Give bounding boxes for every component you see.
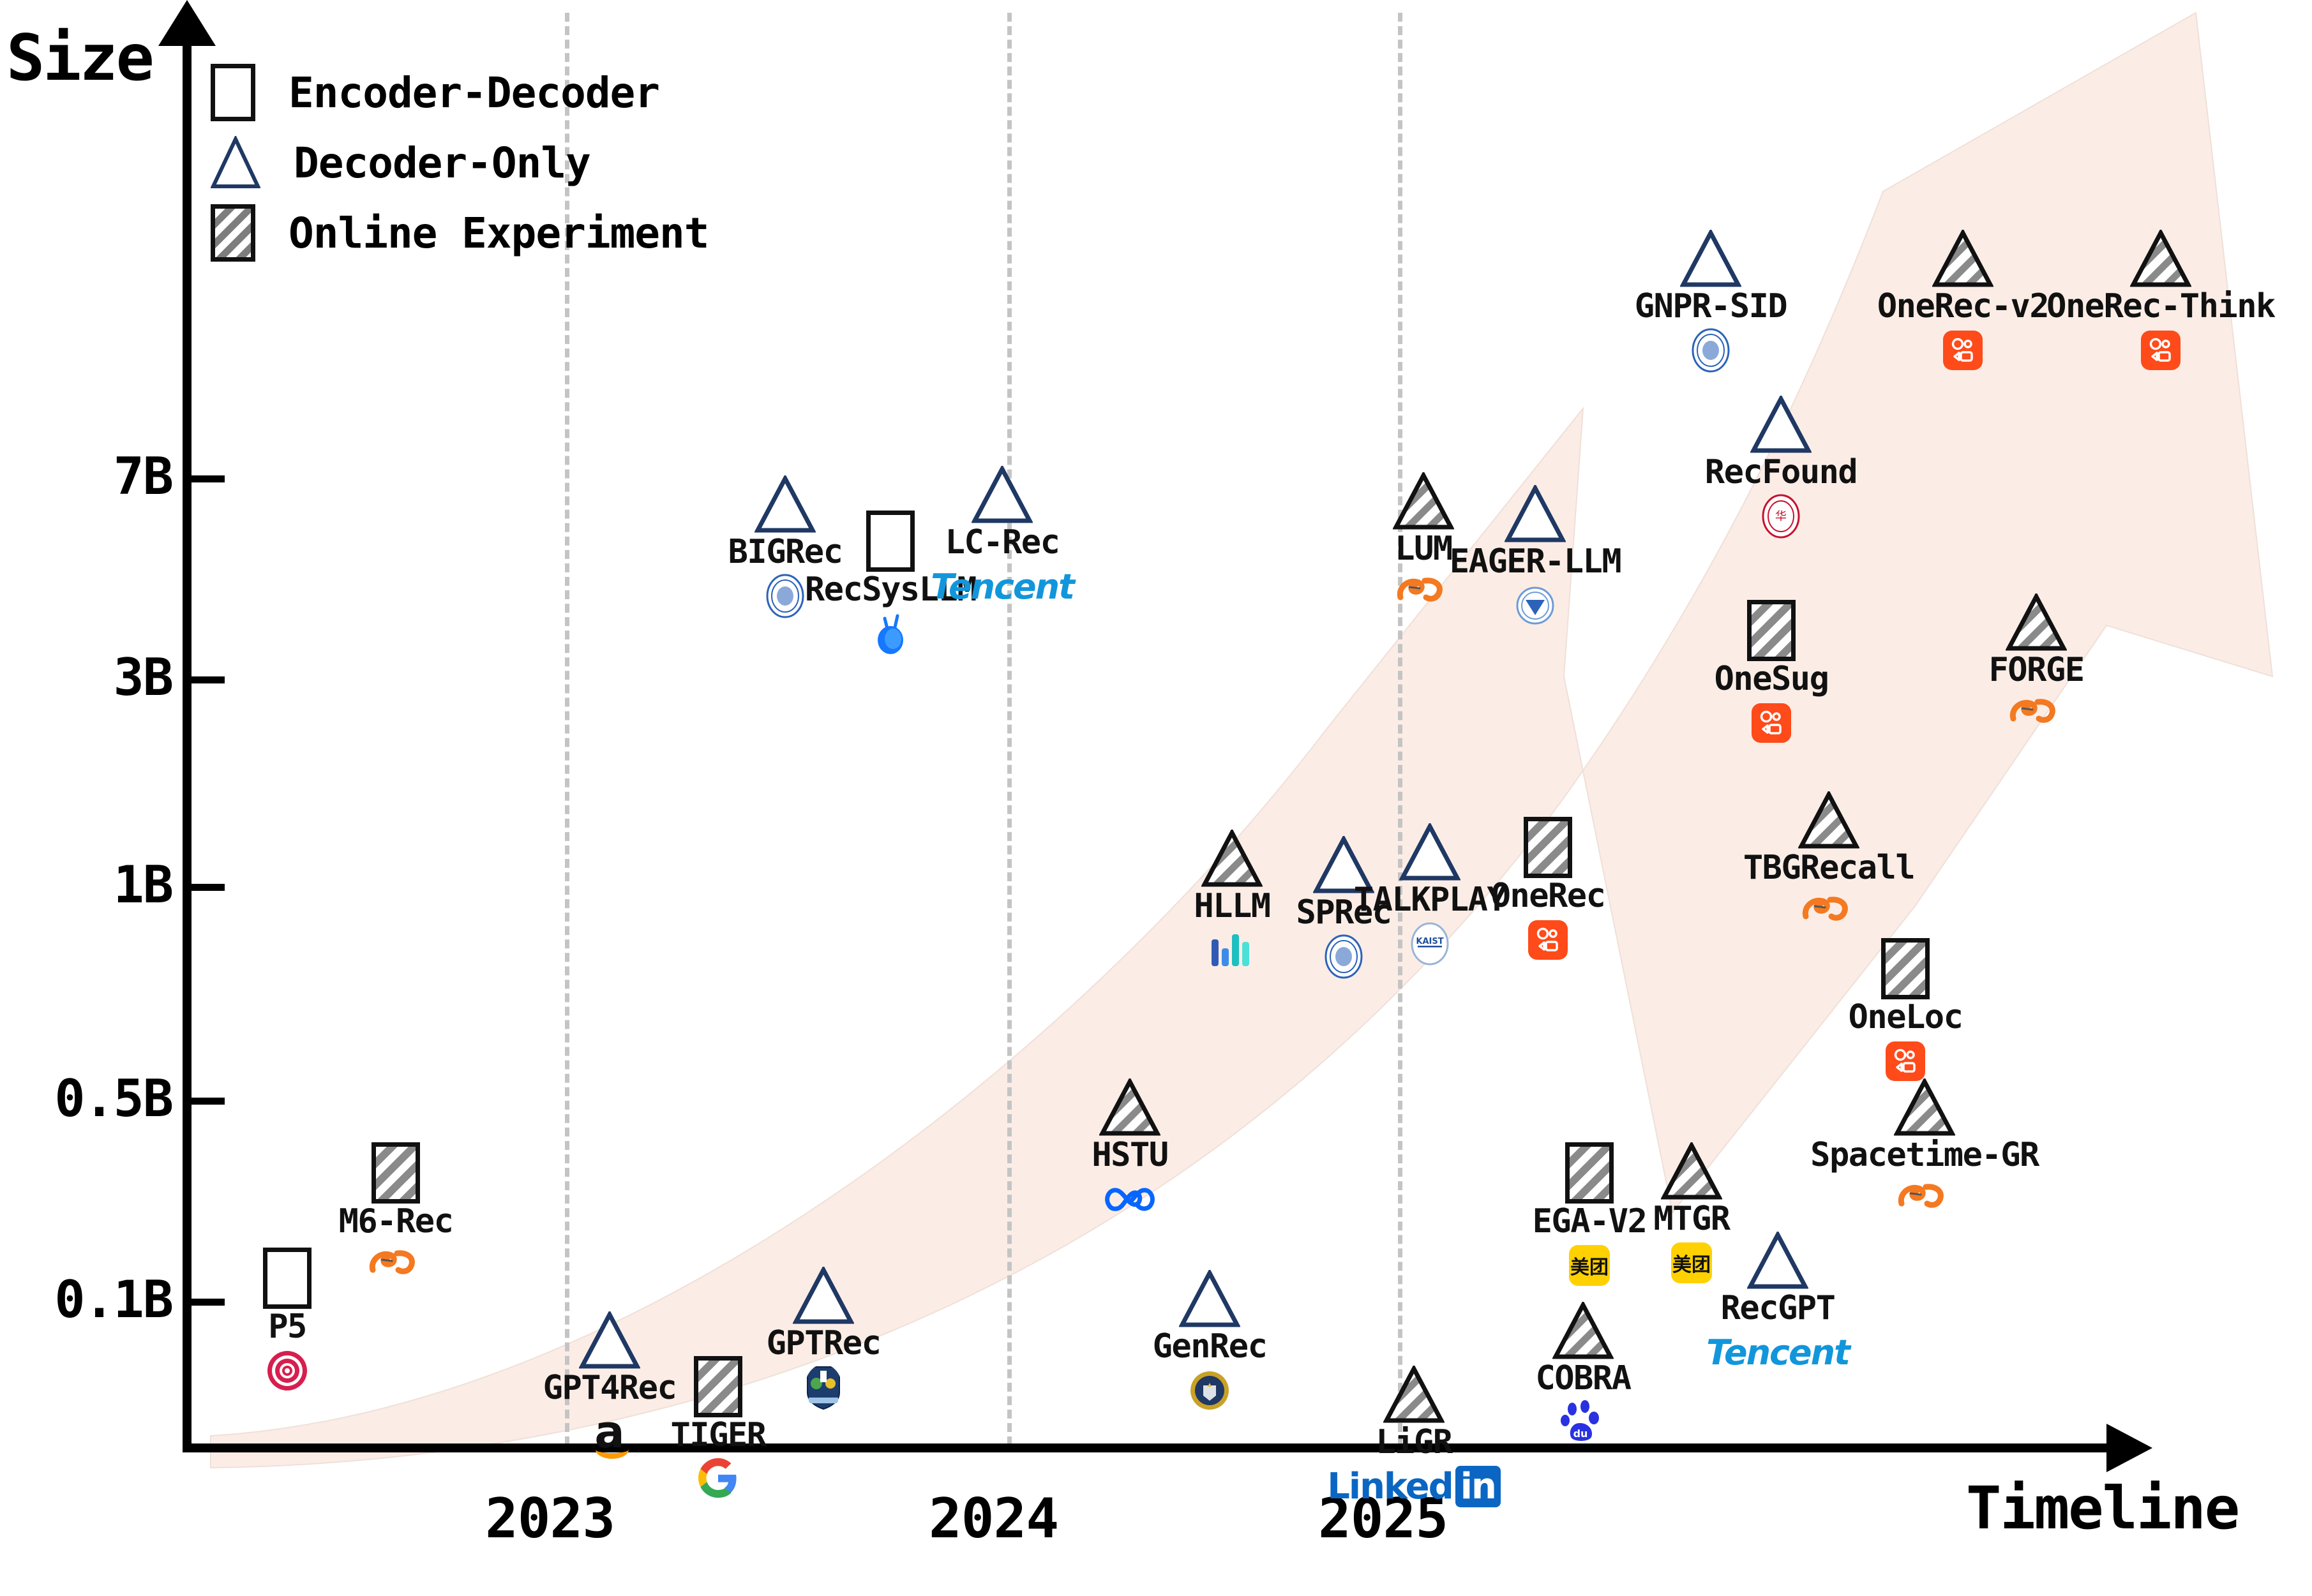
y-tick-label-7b: 7B <box>26 447 172 506</box>
ustc-crest-icon <box>1691 328 1730 373</box>
university-seal-icon <box>1189 1370 1230 1411</box>
glasgow-crest-icon <box>805 1364 842 1410</box>
amazon-logo-icon: a <box>594 1414 624 1450</box>
triangle-outline-icon <box>211 136 260 190</box>
data-point-recgpt[interactable]: RecGPTTencent <box>1708 1232 1848 1376</box>
x-tick-label-2023: 2023 <box>485 1487 615 1551</box>
org-logo <box>1189 1367 1230 1414</box>
org-logo: 华 <box>1761 493 1801 540</box>
marker-triangle-outline <box>1747 1232 1808 1290</box>
marker-square-hatched <box>1565 1142 1614 1204</box>
marker-square-hatched <box>1881 938 1930 999</box>
meituan-logo-icon: 美团 <box>1671 1242 1712 1283</box>
marker-square-hatched <box>1524 817 1572 878</box>
square-hatched-icon <box>211 204 255 262</box>
kuaishou-logo-icon <box>1528 920 1568 960</box>
data-point-label: LiGR <box>1376 1426 1452 1459</box>
legend: Encoder-Decoder Decoder-Only Online Expe… <box>211 57 709 268</box>
data-point-label: OneRec <box>1491 879 1605 913</box>
marker-square-outline <box>866 511 915 572</box>
data-point-lc-rec[interactable]: LC-RecTencent <box>932 466 1072 610</box>
org-logo: 美团 <box>1671 1239 1712 1286</box>
google-logo-icon <box>698 1458 738 1500</box>
ustc-crest-icon <box>765 574 805 618</box>
alibaba-logo-icon <box>1799 888 1858 936</box>
data-point-gnpr-sid[interactable]: GNPR-SID <box>1640 230 1781 374</box>
data-point-label: TIGER <box>670 1419 765 1452</box>
marker-triangle-hatched <box>1932 230 1993 288</box>
marker-triangle-outline <box>1399 823 1460 882</box>
y-tick-mark-1b <box>191 884 225 891</box>
data-point-spacetime-gr[interactable]: Spacetime-GR <box>1854 1078 1995 1223</box>
org-logo <box>1895 1175 1954 1223</box>
data-point-onerec[interactable]: OneRec <box>1478 817 1618 964</box>
marker-triangle-hatched <box>1201 830 1263 888</box>
tencent-logo-icon: Tencent <box>931 567 1074 607</box>
org-logo <box>366 1242 425 1289</box>
org-logo <box>869 610 912 657</box>
tencent-logo-icon: Tencent <box>1706 1332 1849 1373</box>
data-point-label: P5 <box>268 1310 306 1343</box>
kuaishou-logo-icon <box>1752 703 1791 743</box>
data-point-label: GenRec <box>1153 1330 1267 1363</box>
marker-square-hatched <box>1747 600 1796 661</box>
y-tick-label-1b: 1B <box>26 855 172 914</box>
chart-canvas: Size Timeline 7B 3B 1B 0.5B 0.1B 2023 20… <box>0 0 2312 1596</box>
marker-triangle-outline <box>754 475 816 534</box>
data-point-label: LUM <box>1395 532 1452 565</box>
marker-triangle-hatched <box>2130 230 2191 288</box>
meituan-logo-icon: 美团 <box>1569 1245 1610 1286</box>
data-point-eager-llm[interactable]: EAGER-LLM <box>1465 485 1605 629</box>
alibaba-logo-icon <box>2007 690 2066 738</box>
data-point-label: HSTU <box>1092 1138 1167 1172</box>
data-point-oneloc[interactable]: OneLoc <box>1835 938 1976 1085</box>
org-logo <box>1102 1175 1157 1223</box>
baidu-logo-icon: du <box>1561 1400 1605 1445</box>
marker-triangle-hatched <box>1661 1142 1722 1201</box>
data-point-forge[interactable]: FORGE <box>1966 593 2106 738</box>
data-point-label: MTGR <box>1653 1202 1729 1235</box>
x-tick-label-2024: 2024 <box>929 1487 1058 1551</box>
university-seal-icon: 华 <box>1761 494 1801 539</box>
svg-text:华: 华 <box>1775 510 1787 523</box>
svg-text:KAIST: KAIST <box>1416 937 1443 946</box>
x-axis-title: Timeline <box>1966 1474 2239 1542</box>
data-point-onesug[interactable]: OneSug <box>1701 600 1842 747</box>
data-point-label: OneSug <box>1715 662 1829 696</box>
data-point-label: OneLoc <box>1849 1001 1963 1034</box>
marker-triangle-hatched <box>1099 1078 1160 1137</box>
org-logo: Tencent <box>1706 1329 1849 1376</box>
org-logo <box>266 1347 308 1394</box>
marker-triangle-hatched <box>1393 472 1454 531</box>
marker-triangle-outline <box>972 466 1033 525</box>
x-axis-arrow <box>2106 1424 2152 1472</box>
gridline-2024 <box>1007 13 1012 1445</box>
ustc-crest-icon <box>1324 934 1363 979</box>
marker-triangle-hatched <box>1552 1302 1614 1361</box>
data-point-label: GNPR-SID <box>1635 290 1787 323</box>
org-logo <box>1515 582 1555 629</box>
org-logo <box>2007 690 2066 738</box>
legend-label-decoder-only: Decoder-Only <box>294 138 590 188</box>
alibaba-logo-icon <box>1394 569 1453 617</box>
data-point-label: TBGRecall <box>1743 851 1914 884</box>
data-point-cobra[interactable]: COBRAdu <box>1513 1302 1653 1446</box>
data-point-recfound[interactable]: RecFound华 <box>1711 396 1851 540</box>
org-logo <box>1799 888 1858 936</box>
org-logo <box>1886 1038 1925 1085</box>
recsysllm-logo-icon <box>869 609 912 658</box>
y-tick-mark-05b <box>191 1098 225 1105</box>
marker-triangle-hatched <box>2006 593 2067 652</box>
legend-item-encoder-decoder: Encoder-Decoder <box>211 57 709 128</box>
marker-square-outline <box>263 1248 312 1309</box>
org-logo: KAIST <box>1410 920 1450 967</box>
data-point-onerec-think[interactable]: OneRec-Think <box>2091 230 2231 374</box>
data-point-ligr[interactable]: LiGRLinkedin <box>1344 1366 1484 1510</box>
y-tick-label-05b: 0.5B <box>0 1069 172 1128</box>
org-logo: Tencent <box>931 563 1074 610</box>
data-point-label: RecGPT <box>1721 1292 1835 1325</box>
gridline-2025 <box>1398 13 1402 1445</box>
data-point-label: FORGE <box>1988 653 2083 687</box>
alibaba-logo-icon <box>366 1242 425 1290</box>
data-point-label: EAGER-LLM <box>1450 545 1621 578</box>
data-point-label: LC-Rec <box>945 526 1060 559</box>
org-logo <box>765 572 805 620</box>
svg-text:du: du <box>1573 1428 1588 1440</box>
marker-triangle-outline <box>1505 485 1566 544</box>
marker-square-hatched <box>694 1356 742 1417</box>
legend-label-online-experiment: Online Experiment <box>289 209 709 258</box>
marker-square-hatched <box>372 1142 420 1204</box>
alibaba-logo-icon <box>1895 1175 1954 1223</box>
marker-triangle-hatched <box>1383 1366 1445 1424</box>
org-logo <box>1528 916 1568 964</box>
y-tick-label-01b: 0.1B <box>0 1270 172 1329</box>
data-point-label: HLLM <box>1194 890 1270 923</box>
data-point-label: OneRec-Think <box>2046 290 2275 323</box>
y-tick-label-3b: 3B <box>26 648 172 707</box>
org-logo <box>1394 569 1453 616</box>
bytedance-logo-icon <box>1209 930 1255 970</box>
org-logo <box>1752 699 1791 747</box>
marker-triangle-hatched <box>1798 791 1859 850</box>
marker-triangle-outline <box>579 1311 640 1370</box>
org-logo <box>1324 933 1363 980</box>
marker-triangle-hatched <box>1894 1078 1955 1137</box>
data-point-label: OneRec-v2 <box>1877 290 2048 323</box>
meta-logo-icon <box>1102 1182 1157 1216</box>
data-point-gptrec[interactable]: GPTRec <box>753 1267 894 1411</box>
org-logo: a <box>594 1408 624 1456</box>
marker-triangle-outline <box>793 1267 854 1325</box>
org-logo <box>1943 327 1983 374</box>
data-point-label: M6-Rec <box>339 1205 453 1238</box>
y-axis-title: Size <box>6 20 153 95</box>
org-logo <box>1691 327 1730 374</box>
legend-item-decoder-only: Decoder-Only <box>211 128 709 198</box>
kaist-crest-icon: KAIST <box>1410 922 1450 966</box>
data-point-onerec-v2[interactable]: OneRec-v2 <box>1893 230 2033 374</box>
kuaishou-logo-icon <box>1943 331 1983 370</box>
marker-triangle-outline <box>1680 230 1741 288</box>
org-logo: 美团 <box>1569 1242 1610 1289</box>
y-tick-mark-3b <box>191 676 225 683</box>
data-point-label: Spacetime-GR <box>1810 1138 2039 1172</box>
y-tick-mark-7b <box>191 475 225 482</box>
kuaishou-logo-icon <box>1886 1041 1925 1081</box>
data-point-tbgrecall[interactable]: TBGRecall <box>1759 791 1899 936</box>
data-point-label: RecFound <box>1705 456 1857 489</box>
org-logo: du <box>1561 1399 1605 1446</box>
org-logo: Linkedin <box>1327 1463 1501 1510</box>
marker-triangle-outline <box>1750 396 1812 454</box>
org-logo <box>1209 927 1255 974</box>
y-axis-line <box>183 15 191 1451</box>
university-crest-icon <box>1515 585 1555 627</box>
legend-label-encoder-decoder: Encoder-Decoder <box>289 68 659 117</box>
org-logo <box>805 1364 842 1411</box>
kuaishou-logo-icon <box>2141 331 2181 370</box>
data-point-m6-rec[interactable]: M6-Rec <box>326 1142 466 1289</box>
square-outline-icon <box>211 64 255 121</box>
legend-item-online-experiment: Online Experiment <box>211 198 709 268</box>
data-point-label: GPTRec <box>767 1327 881 1360</box>
linkedin-logo-icon: Linkedin <box>1327 1466 1501 1507</box>
university-seal-icon <box>266 1350 308 1392</box>
x-axis-line <box>183 1443 2117 1452</box>
data-point-label: COBRA <box>1535 1362 1630 1395</box>
data-point-genrec[interactable]: GenRec <box>1139 1270 1280 1414</box>
org-logo <box>698 1456 738 1503</box>
org-logo <box>2141 327 2181 374</box>
marker-triangle-outline <box>1179 1270 1240 1329</box>
data-point-hstu[interactable]: HSTU <box>1060 1078 1200 1223</box>
